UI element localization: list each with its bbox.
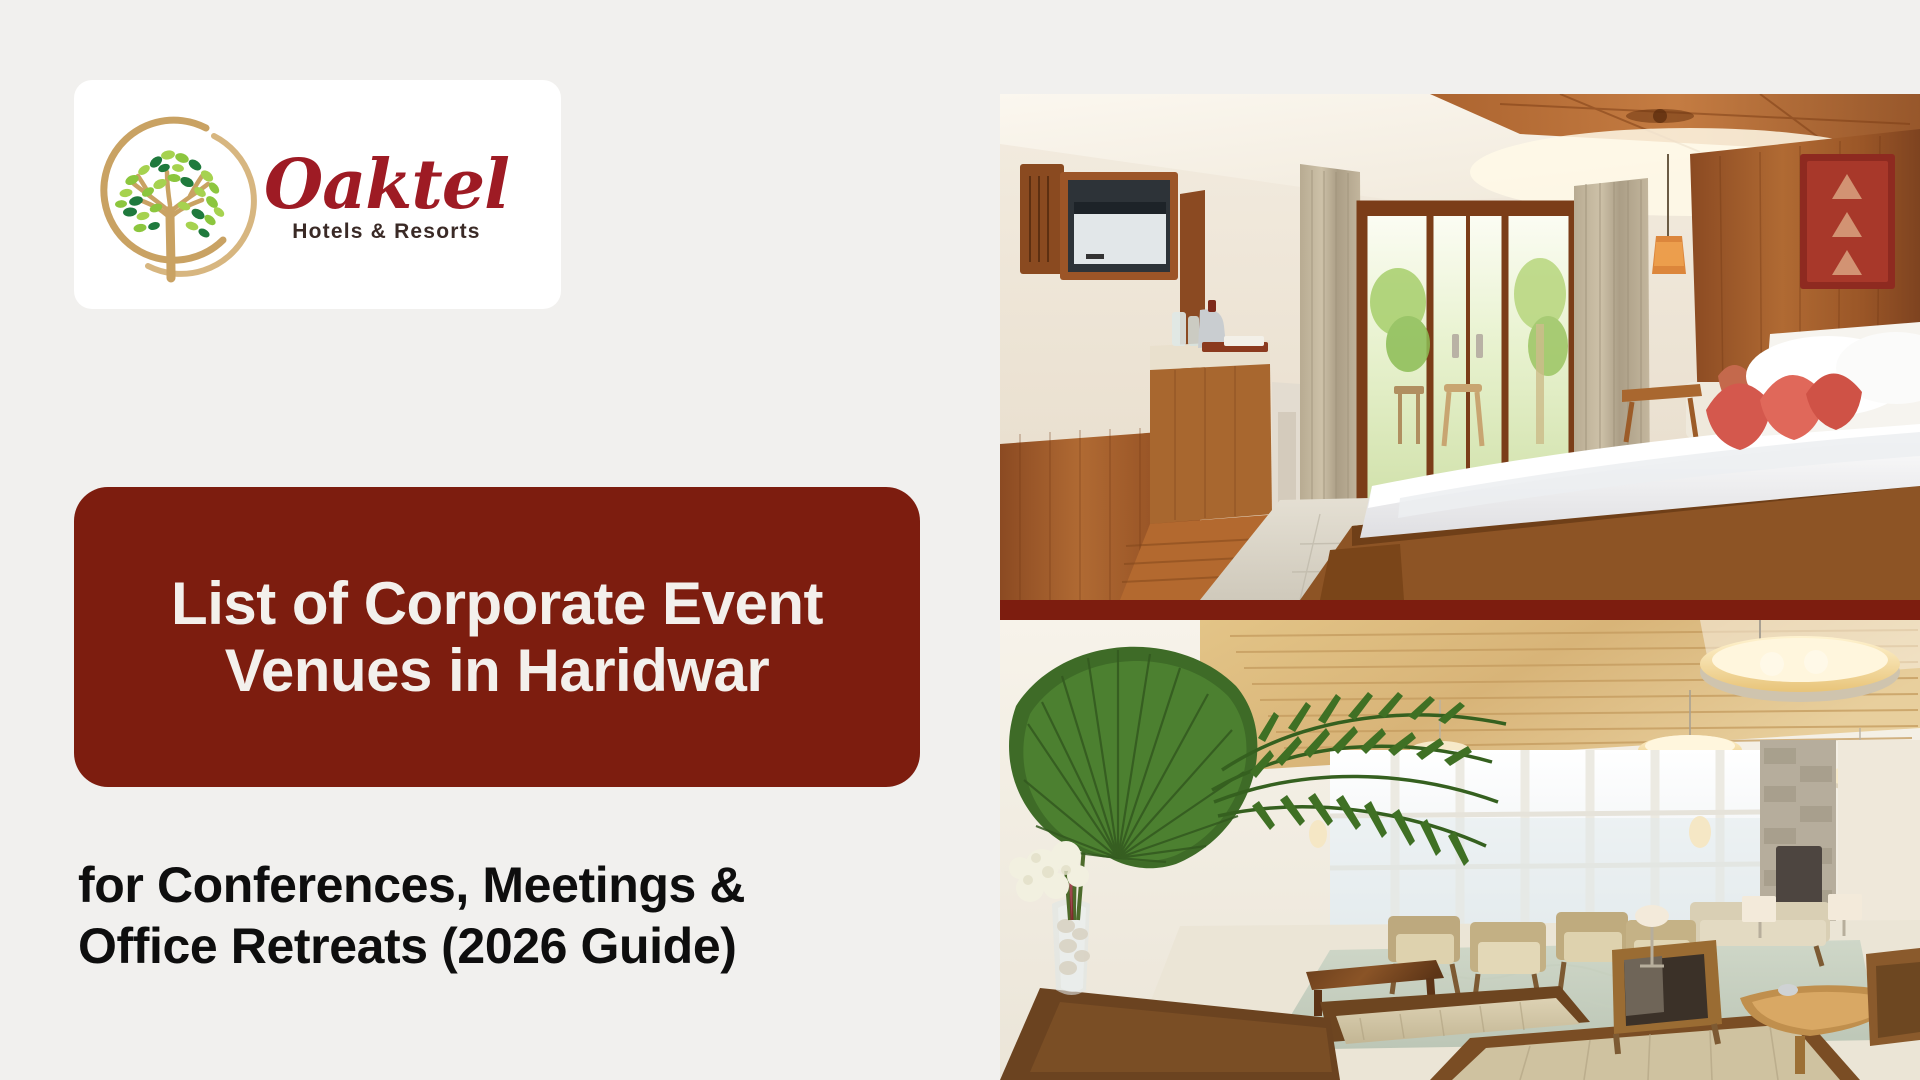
page-title: List of Corporate Event Venues in Haridw… (143, 570, 851, 704)
page-subtitle: for Conferences, Meetings & Office Retre… (78, 855, 938, 977)
left-content-column: Oaktel Hotels & Resorts List of Corporat… (0, 0, 1000, 1080)
page-title-line-2: Venues in Haridwar (225, 637, 770, 704)
right-photo-column (1000, 0, 1920, 1080)
brand-wordmark-oak: Oak (264, 145, 411, 225)
hotel-guest-room-photo (1000, 94, 1920, 600)
page-title-line-1: List of Corporate Event (171, 570, 823, 637)
page-subtitle-line-1: for Conferences, Meetings & (78, 857, 745, 913)
page-subtitle-line-2: Office Retreats (2026 Guide) (78, 918, 736, 974)
title-banner: List of Corporate Event Venues in Haridw… (74, 487, 920, 787)
brand-wordmark: Oaktel (264, 153, 509, 218)
maroon-divider-bar (1000, 600, 1920, 620)
background-filler (0, 1040, 1000, 1080)
brand-wordmark-group: Oaktel Hotels & Resorts (264, 153, 509, 244)
brand-logo-card: Oaktel Hotels & Resorts (74, 80, 561, 309)
hotel-lobby-lounge-photo (1000, 620, 1920, 1080)
brand-tagline: Hotels & Resorts (292, 220, 480, 244)
oak-tree-in-gold-circle-icon (88, 100, 258, 290)
brand-wordmark-tel: tel (411, 145, 509, 225)
